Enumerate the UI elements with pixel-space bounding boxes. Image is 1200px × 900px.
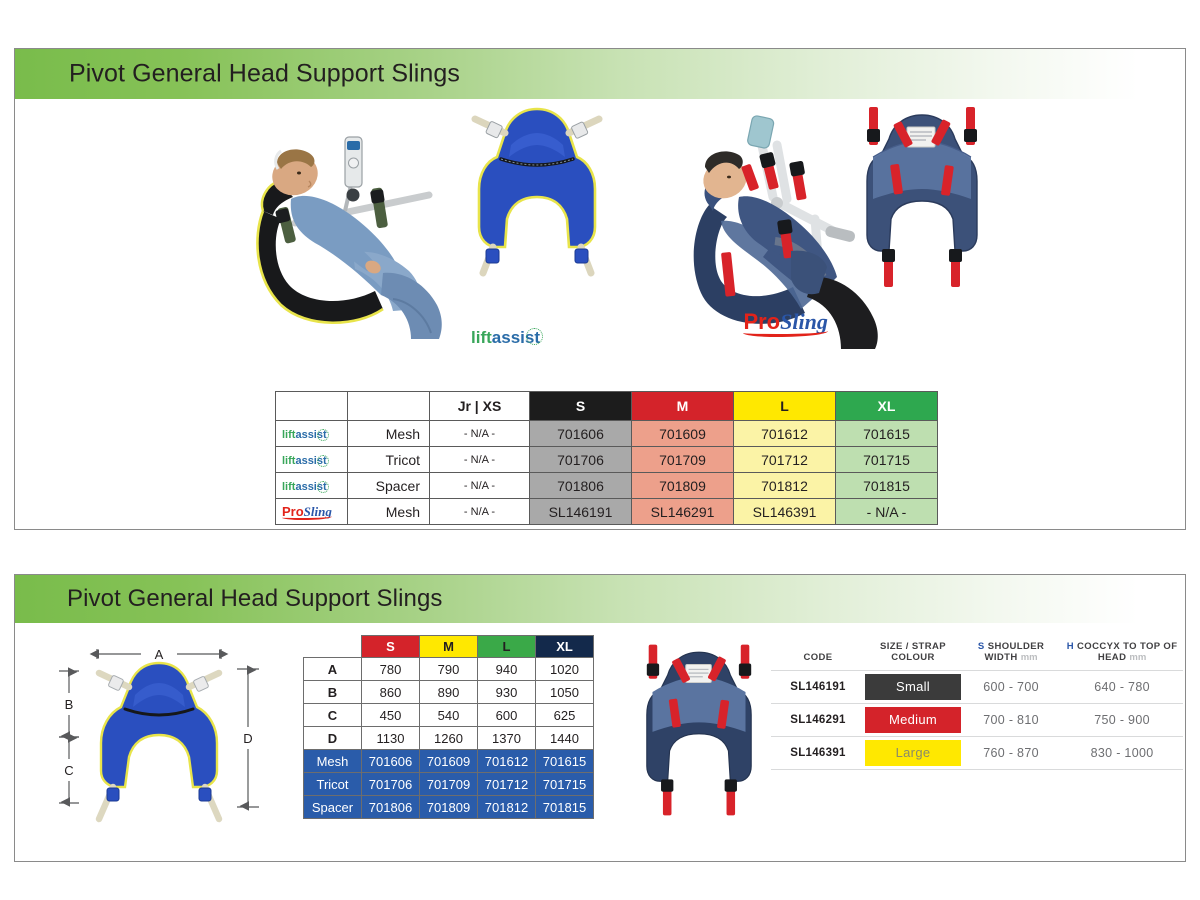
catalog-page: Pivot General Head Support Slings [0,0,1200,900]
spec-shoulder-width: 760 - 870 [961,737,1061,770]
dim-value-s: 1130 [362,727,420,750]
cell-code-m: 701809 [632,473,734,499]
fabric-row-label: Mesh [304,750,362,773]
header-code: CODE [771,641,865,671]
table-header-row: S M L XL [304,636,594,658]
spec-size-swatch: Small [865,671,961,704]
table-row: Spacer 701806 701809 701812 701815 [304,796,594,819]
code-value-l: 701712 [478,773,536,796]
photo-patient-liftassist [233,103,483,348]
photo-sling-prosling-small [643,637,755,823]
liftassist-ring-icon [317,481,329,493]
photo-sling-liftassist-blue [467,99,607,284]
liftassist-ring-icon [317,429,329,441]
header-coccyx-to-head: H COCCYX TO TOP OF HEAD mm [1061,641,1183,671]
cell-jr-xs: - N/A - [430,499,530,525]
cell-code-s: 701706 [530,447,632,473]
header-size-xl: XL [536,636,594,658]
cell-code-l: SL146391 [734,499,836,525]
dimension-label-a: A [155,647,164,662]
spec-size-swatch: Medium [865,704,961,737]
code-value-m: 701709 [420,773,478,796]
table-row: liftassist Tricot - N/A - 701706 701709 … [276,447,938,473]
cell-code-l: 701612 [734,421,836,447]
dim-value-s: 860 [362,681,420,704]
header-size-l: L [734,392,836,421]
table-row: A 780 790 940 1020 [304,658,594,681]
table-row: liftassist Spacer - N/A - 701806 701809 … [276,473,938,499]
specification-table: CODE SIZE / STRAP COLOUR S SHOULDER WIDT… [771,641,1183,770]
dim-value-m: 890 [420,681,478,704]
cell-code-s: 701606 [530,421,632,447]
spec-size-swatch: Large [865,737,961,770]
row-brand-logo: liftassist [276,421,348,447]
prosling-swoosh-icon [282,514,332,520]
fabric-row-label: Spacer [304,796,362,819]
code-value-m: 701609 [420,750,478,773]
liftassist-logo-lift: lift [282,455,295,467]
code-value-l: 701812 [478,796,536,819]
dim-row-label: A [304,658,362,681]
header-shoulder-width: S SHOULDER WIDTH mm [961,641,1061,671]
table-row: Mesh 701606 701609 701612 701615 [304,750,594,773]
panel-bottom-header: Pivot General Head Support Slings [15,575,1185,623]
liftassist-logo-lift: lift [471,328,492,347]
row-fabric: Mesh [348,421,430,447]
photo-sling-prosling-small-svg [643,637,755,823]
row-brand-logo: ProSling [276,499,348,525]
dim-value-xl: 1020 [536,658,594,681]
header-blank [304,636,362,658]
dim-row-label: C [304,704,362,727]
spec-code: SL146291 [771,704,865,737]
cell-code-xl: 701815 [836,473,938,499]
cell-jr-xs: - N/A - [430,421,530,447]
table-row: ProSling Mesh - N/A - SL146191 SL146291 … [276,499,938,525]
table-row: liftassist Mesh - N/A - 701606 701609 70… [276,421,938,447]
header-size-s: S [362,636,420,658]
dim-value-s: 780 [362,658,420,681]
table-row: B 860 890 930 1050 [304,681,594,704]
dim-value-l: 600 [478,704,536,727]
photo-sling-prosling-navy [863,103,981,296]
spec-coccyx-to-head: 750 - 900 [1061,704,1183,737]
table-row: SL146391 Large 760 - 870 830 - 1000 [771,737,1183,770]
photo-patient-liftassist-svg [233,103,483,343]
cell-code-xl: 701715 [836,447,938,473]
dim-value-xl: 625 [536,704,594,727]
header-size-xl: XL [836,392,938,421]
product-code-table: Jr | XS S M L XL liftassist [275,391,938,525]
spec-code: SL146391 [771,737,865,770]
header-size-m: M [632,392,734,421]
panel-top-body: liftassist [15,99,1185,361]
code-value-s: 701606 [362,750,420,773]
header-size-m: M [420,636,478,658]
spec-code: SL146191 [771,671,865,704]
product-photo-gallery: liftassist [15,99,1185,361]
dim-value-s: 450 [362,704,420,727]
liftassist-ring-icon [526,328,543,345]
header-blank-logo [276,392,348,421]
strap-colour-medium: Medium [865,707,961,733]
prosling-logo: ProSling [743,311,827,333]
code-value-xl: 701815 [536,796,594,819]
dim-row-label: D [304,727,362,750]
dim-value-xl: 1440 [536,727,594,750]
code-value-xl: 701615 [536,750,594,773]
header-size-s: S [530,392,632,421]
code-value-xl: 701715 [536,773,594,796]
dimension-diagram: A B C [37,631,287,831]
dim-value-xl: 1050 [536,681,594,704]
cell-code-m: SL146291 [632,499,734,525]
dim-value-m: 1260 [420,727,478,750]
dim-value-m: 790 [420,658,478,681]
cell-code-l: 701712 [734,447,836,473]
cell-code-m: 701709 [632,447,734,473]
coccyx-unit: mm [1129,652,1146,663]
shoulder-axis-letter: S [978,641,985,652]
coccyx-label: COCCYX TO TOP OF HEAD [1077,641,1177,663]
cell-code-l: 701812 [734,473,836,499]
cell-code-xl: - N/A - [836,499,938,525]
spec-coccyx-to-head: 640 - 780 [1061,671,1183,704]
dim-value-l: 1370 [478,727,536,750]
dimension-label-d: D [243,731,252,746]
panel-top: Pivot General Head Support Slings [14,48,1186,530]
panel-bottom-body: A B C [15,623,1185,861]
liftassist-logo: liftassist [471,329,540,346]
spec-shoulder-width: 600 - 700 [961,671,1061,704]
cell-jr-xs: - N/A - [430,447,530,473]
dim-value-l: 940 [478,658,536,681]
coccyx-axis-letter: H [1067,641,1074,652]
panel-bottom: Pivot General Head Support Slings [14,574,1186,862]
table-row: D 1130 1260 1370 1440 [304,727,594,750]
cell-jr-xs: - N/A - [430,473,530,499]
dimension-label-c: C [64,763,73,778]
dimension-diagram-svg: A B C [37,631,287,831]
table-row: SL146191 Small 600 - 700 640 - 780 [771,671,1183,704]
dimension-table: S M L XL A 780 790 940 1020 B [303,635,594,819]
code-value-l: 701612 [478,750,536,773]
panel-top-header: Pivot General Head Support Slings [15,49,1185,99]
table-header-row: Jr | XS S M L XL [276,392,938,421]
table-row: C 450 540 600 625 [304,704,594,727]
dim-row-label: B [304,681,362,704]
table-header-row: CODE SIZE / STRAP COLOUR S SHOULDER WIDT… [771,641,1183,671]
cell-code-s: SL146191 [530,499,632,525]
table-row: Tricot 701706 701709 701712 701715 [304,773,594,796]
table-row: SL146291 Medium 700 - 810 750 - 900 [771,704,1183,737]
row-brand-logo: liftassist [276,447,348,473]
liftassist-ring-icon [317,455,329,467]
liftassist-logo-lift: lift [282,429,295,441]
strap-colour-small: Small [865,674,961,700]
shoulder-unit: mm [1021,652,1038,663]
dim-value-l: 930 [478,681,536,704]
dim-value-m: 540 [420,704,478,727]
strap-colour-large: Large [865,740,961,766]
photo-sling-prosling-navy-svg [863,103,981,291]
cell-code-m: 701609 [632,421,734,447]
page-title-secondary: Pivot General Head Support Slings [67,585,443,613]
cell-code-s: 701806 [530,473,632,499]
header-blank-fabric [348,392,430,421]
header-size-strap-colour: SIZE / STRAP COLOUR [865,641,961,671]
code-value-s: 701706 [362,773,420,796]
header-size-l: L [478,636,536,658]
spec-shoulder-width: 700 - 810 [961,704,1061,737]
page-title: Pivot General Head Support Slings [69,60,460,89]
photo-sling-liftassist-blue-svg [467,99,607,279]
header-size-jr-xs: Jr | XS [430,392,530,421]
code-value-s: 701806 [362,796,420,819]
row-fabric: Mesh [348,499,430,525]
liftassist-logo-lift: lift [282,481,295,493]
row-brand-logo: liftassist [276,473,348,499]
row-fabric: Tricot [348,447,430,473]
dimension-label-b: B [65,697,74,712]
cell-code-xl: 701615 [836,421,938,447]
row-fabric: Spacer [348,473,430,499]
fabric-row-label: Tricot [304,773,362,796]
spec-coccyx-to-head: 830 - 1000 [1061,737,1183,770]
code-value-m: 701809 [420,796,478,819]
